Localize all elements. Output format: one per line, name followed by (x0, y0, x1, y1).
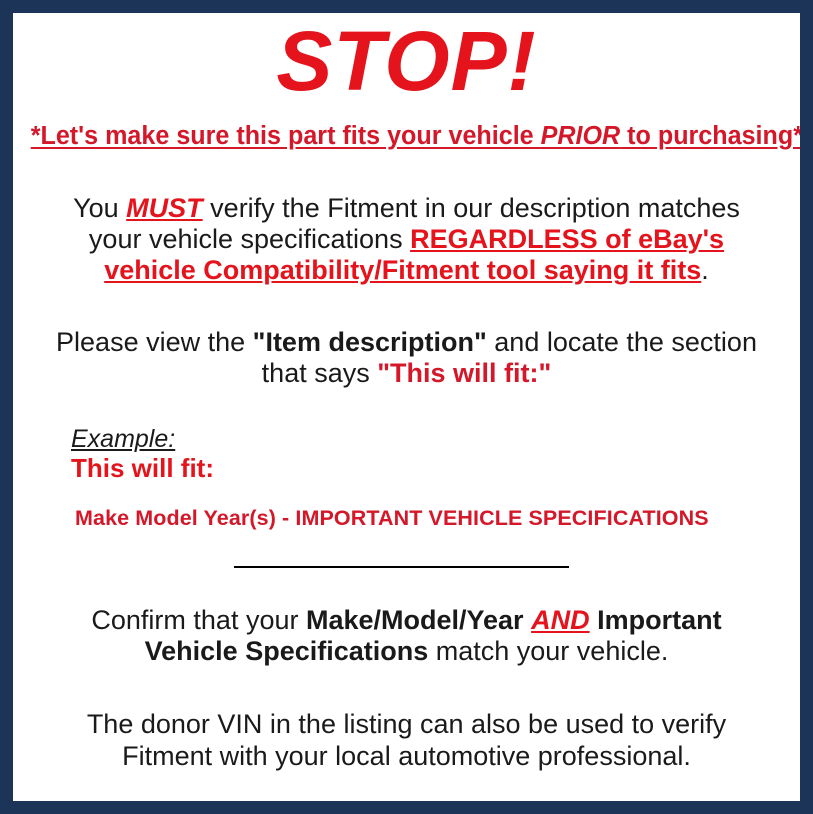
must-emphasis-must: MUST (126, 193, 203, 223)
itemdesc-text-part1: Please view the (56, 327, 253, 357)
confirm-emphasis-and: AND (531, 605, 590, 635)
subtitle-emphasis-prior: PRIOR (541, 122, 621, 150)
subtitle-line: *Let's make sure this part fits your veh… (31, 105, 783, 151)
example-label: Example: (71, 425, 175, 453)
must-text-part1: You (73, 193, 126, 223)
confirm-text-part1: Confirm that your (91, 605, 306, 635)
vin-paragraph: The donor VIN in the listing can also be… (25, 667, 788, 772)
divider-wrap (25, 531, 788, 573)
fitment-notice-frame: STOP! *Let's make sure this part fits yo… (0, 0, 813, 814)
example-fit-header: This will fit: (71, 453, 788, 484)
itemdesc-emphasis-item-description: "Item description" (253, 327, 487, 357)
notice-body: STOP! *Let's make sure this part fits yo… (13, 13, 800, 801)
stop-headline: STOP! (25, 13, 788, 105)
must-text-part3: . (701, 255, 709, 285)
confirm-emphasis-make-model-year: Make/Model/Year (306, 605, 524, 635)
confirm-text-part2 (524, 605, 532, 635)
example-label-row: Example: (71, 425, 788, 453)
closing-thank-you: Thank you for confirming Fitment! (25, 772, 788, 814)
example-spec-line: Make Model Year(s) - IMPORTANT VEHICLE S… (71, 484, 788, 531)
confirm-text-part4: match your vehicle. (428, 636, 668, 666)
example-block: Example: This will fit: Make Model Year(… (25, 389, 788, 530)
must-verify-paragraph: You MUST verify the Fitment in our descr… (25, 151, 788, 287)
confirm-paragraph: Confirm that your Make/Model/Year AND Im… (25, 573, 788, 668)
subtitle-text-part2: to purchasing* (620, 122, 803, 150)
confirm-text-part3 (590, 605, 598, 635)
subtitle-text-part1: *Let's make sure this part fits your veh… (31, 122, 541, 150)
itemdesc-emphasis-this-will-fit: "This will fit:" (377, 358, 551, 388)
item-description-paragraph: Please view the "Item description" and l… (25, 287, 788, 390)
section-divider (234, 566, 569, 568)
